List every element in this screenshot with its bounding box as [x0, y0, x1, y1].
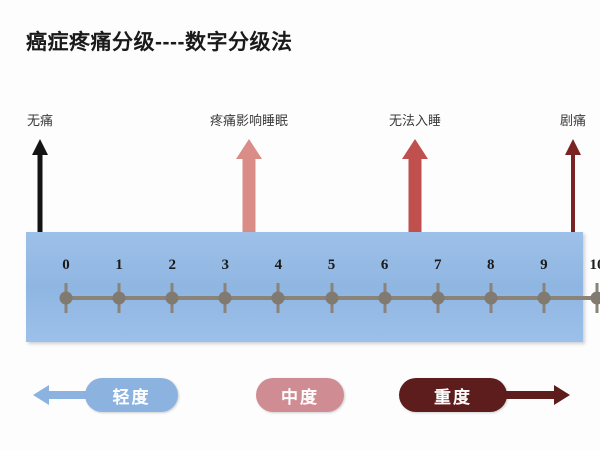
scale-dot[interactable] [60, 292, 73, 305]
scale-dot[interactable] [325, 292, 338, 305]
legend-label-moderate: 中度 [281, 383, 319, 408]
scale-number: 2 [168, 257, 176, 274]
up-arrow-no-pain [28, 139, 52, 238]
legend-pill-mild[interactable]: 轻度 [85, 378, 178, 412]
annotation-label-affects-sleep: 疼痛影响睡眠 [210, 110, 288, 129]
legend-pill-severe[interactable]: 重度 [399, 378, 507, 412]
scale-number: 5 [328, 257, 336, 274]
right-arrow-severe [494, 381, 570, 414]
scale-dot[interactable] [113, 292, 126, 305]
up-arrow-severe-pain [561, 139, 585, 238]
scale-number: 6 [381, 257, 389, 274]
annotation-label-cannot-sleep: 无法入睡 [389, 110, 441, 129]
scale-number: 1 [115, 257, 123, 274]
scale-number: 4 [275, 257, 283, 274]
scale-number: 10 [590, 257, 600, 274]
scale-number: 8 [487, 257, 495, 274]
scale-number: 3 [222, 257, 230, 274]
scale-dot[interactable] [537, 292, 550, 305]
scale-number: 7 [434, 257, 442, 274]
scale-dot[interactable] [591, 292, 600, 305]
scale-dot[interactable] [219, 292, 232, 305]
scale-number: 9 [540, 257, 548, 274]
legend-pill-moderate[interactable]: 中度 [256, 378, 344, 412]
up-arrow-affects-sleep [233, 139, 265, 238]
up-arrow-cannot-sleep [399, 139, 431, 238]
scale-dot[interactable] [166, 292, 179, 305]
scale-dot[interactable] [484, 292, 497, 305]
legend-label-mild: 轻度 [113, 383, 151, 408]
annotation-label-severe-pain: 剧痛 [560, 110, 586, 129]
pain-scale-panel: 012345678910 [26, 232, 583, 342]
legend-label-severe: 重度 [434, 383, 472, 408]
scale-dot[interactable] [378, 292, 391, 305]
scale-dot[interactable] [272, 292, 285, 305]
scale-dot[interactable] [431, 292, 444, 305]
page-title: 癌症疼痛分级----数字分级法 [26, 26, 292, 56]
annotation-label-no-pain: 无痛 [27, 110, 53, 129]
scale-number: 0 [62, 257, 70, 274]
